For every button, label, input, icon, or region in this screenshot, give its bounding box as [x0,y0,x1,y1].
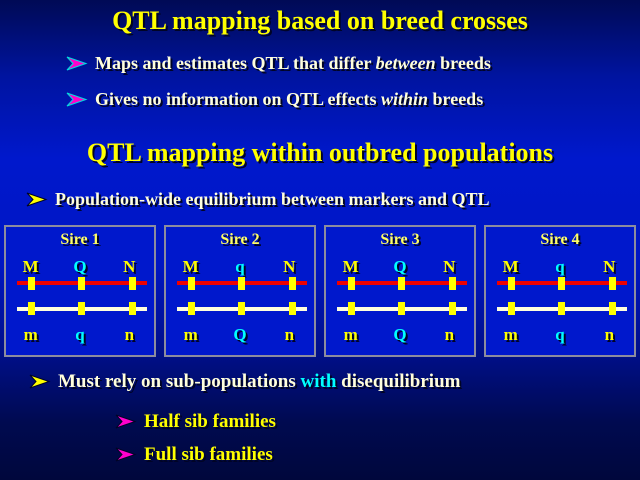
allele-marker-n: N [425,257,474,277]
allele-qtl: q [55,325,104,345]
allele-qtl: Q [375,325,424,345]
maternal-allele-row: m q n [6,325,154,345]
marker-tick [348,302,355,315]
bullet-part: Gives no information on QTL effects [95,89,381,109]
marker-tick [398,277,405,290]
slide-canvas: QTL mapping based on breed crosses Maps … [0,0,640,480]
allele-marker-m: m [6,325,55,345]
sire-box-4: Sire 4 M q N m q n [484,225,636,357]
allele-marker-n: n [425,325,474,345]
bullet-text: Maps and estimates QTL that differ betwe… [95,53,491,74]
bullet-part: breeds [436,53,491,73]
section2-title: QTL mapping within outbred populations [0,138,640,168]
marker-tick [609,302,616,315]
bullet-maps-and-estimates: Maps and estimates QTL that differ betwe… [66,53,491,74]
arrow-icon-magenta [66,92,88,108]
bullet-text: Population-wide equilibrium between mark… [55,189,490,210]
marker-tick [558,277,565,290]
bullet-text: Gives no information on QTL effects with… [95,89,483,110]
allele-marker-n: n [265,325,314,345]
allele-qtl: Q [375,257,424,277]
marker-tick [508,302,515,315]
marker-tick [348,277,355,290]
bullet-must-rely-on-subpopulations: Must rely on sub-populations with disequ… [29,371,460,393]
sire-haplotype-diagram: Sire 1 M Q N m q n Sire 2 M [4,225,636,357]
marker-tick [449,302,456,315]
allele-qtl: Q [55,257,104,277]
arrow-icon-magenta [66,56,88,72]
allele-marker-n: N [265,257,314,277]
allele-qtl: q [535,257,584,277]
maternal-allele-row: m Q n [326,325,474,345]
bullet-part-italic: between [376,53,436,73]
paternal-allele-row: M Q N [6,257,154,277]
arrow-icon-magenta [115,447,137,463]
arrow-icon-yellow [29,374,51,390]
paternal-allele-row: M Q N [326,257,474,277]
allele-marker-m: m [326,325,375,345]
allele-qtl: Q [215,325,264,345]
sire-label: Sire 2 [166,231,314,249]
bullet-full-sib-families: Full sib families [115,444,273,466]
marker-tick [28,277,35,290]
sire-label: Sire 4 [486,231,634,249]
allele-marker-n: N [585,257,634,277]
maternal-allele-row: m Q n [166,325,314,345]
marker-tick [558,302,565,315]
bullet-part-italic: within [381,89,428,109]
sire-box-1: Sire 1 M Q N m q n [4,225,156,357]
marker-tick [129,277,136,290]
sire-box-3: Sire 3 M Q N m Q n [324,225,476,357]
bullet-part-highlight: with [301,371,337,392]
sire-label: Sire 1 [6,231,154,249]
marker-tick [449,277,456,290]
marker-tick [398,302,405,315]
bullet-part: disequilibrium [336,371,460,392]
paternal-allele-row: M q N [486,257,634,277]
bullet-text: Must rely on sub-populations with disequ… [58,371,460,393]
allele-qtl: q [535,325,584,345]
maternal-allele-row: m q n [486,325,634,345]
section1-title: QTL mapping based on breed crosses [0,6,640,36]
sire-box-2: Sire 2 M q N m Q n [164,225,316,357]
allele-marker-n: n [105,325,154,345]
bullet-part: Must rely on sub-populations [58,371,301,392]
marker-tick [188,277,195,290]
paternal-allele-row: M q N [166,257,314,277]
arrow-icon-yellow [26,192,48,208]
arrow-icon-magenta [115,414,137,430]
allele-marker-m: m [486,325,535,345]
sire-label: Sire 3 [326,231,474,249]
marker-tick [188,302,195,315]
marker-tick [78,302,85,315]
bullet-part: breeds [428,89,483,109]
allele-marker-m: m [166,325,215,345]
bullet-gives-no-information: Gives no information on QTL effects with… [66,89,483,110]
marker-tick [28,302,35,315]
bullet-population-wide-equilibrium: Population-wide equilibrium between mark… [26,189,490,210]
marker-tick [609,277,616,290]
bullet-part: Maps and estimates QTL that differ [95,53,376,73]
bullet-text: Full sib families [144,444,273,466]
marker-tick [129,302,136,315]
marker-tick [238,302,245,315]
marker-tick [508,277,515,290]
allele-marker-m: M [166,257,215,277]
bullet-text: Half sib families [144,411,276,433]
marker-tick [78,277,85,290]
allele-marker-m: M [6,257,55,277]
allele-marker-n: N [105,257,154,277]
allele-qtl: q [215,257,264,277]
marker-tick [289,302,296,315]
allele-marker-m: M [486,257,535,277]
bullet-half-sib-families: Half sib families [115,411,276,433]
marker-tick [238,277,245,290]
allele-marker-m: M [326,257,375,277]
allele-marker-n: n [585,325,634,345]
marker-tick [289,277,296,290]
